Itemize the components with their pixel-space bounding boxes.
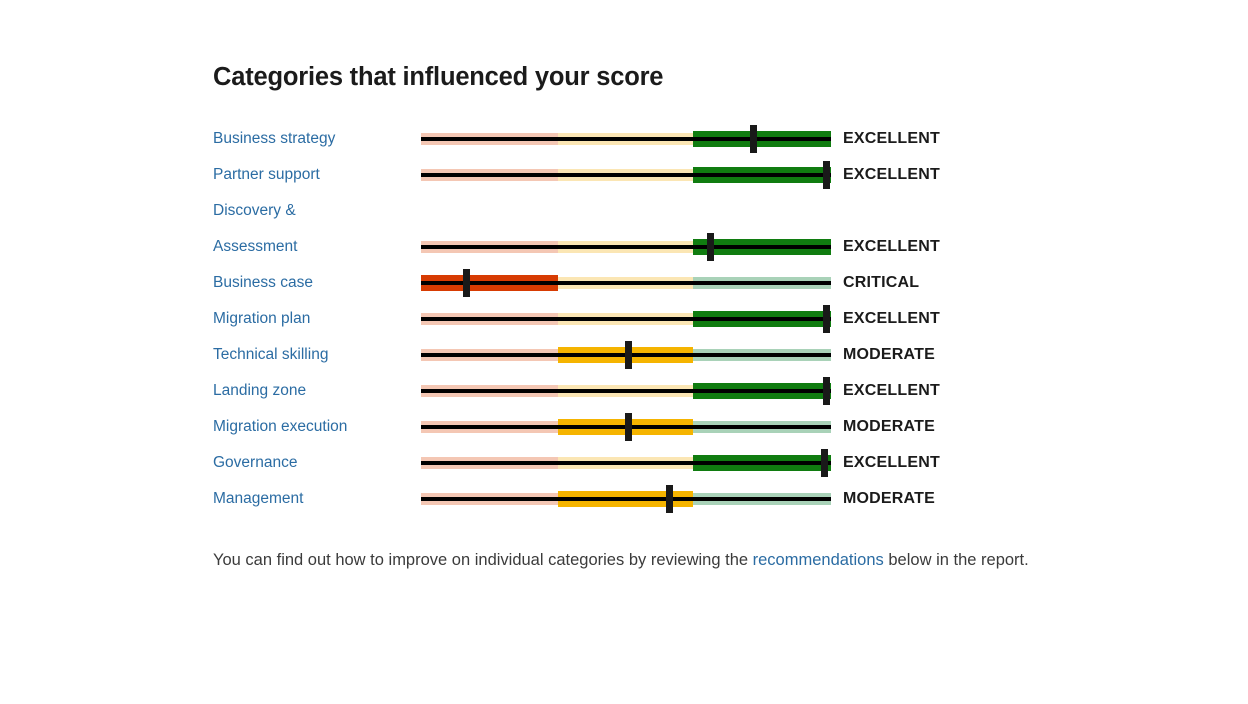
measure-bar: [421, 281, 831, 285]
measure-bar: [421, 173, 831, 177]
score-marker: [625, 341, 632, 369]
bullet-track: [421, 373, 831, 409]
category-label[interactable]: Partner support: [213, 157, 413, 193]
category-label[interactable]: Management: [213, 481, 413, 517]
category-label[interactable]: Business case: [213, 265, 413, 301]
categories-panel: Categories that influenced your score Bu…: [213, 62, 1113, 589]
rating-badge: EXCELLENT: [843, 445, 940, 481]
measure-bar: [421, 245, 831, 249]
rating-badge: MODERATE: [843, 481, 935, 517]
bullet-track: [421, 409, 831, 445]
bullet-track: [421, 337, 831, 373]
category-label[interactable]: Migration plan: [213, 301, 413, 337]
measure-bar: [421, 497, 831, 501]
chart-row: ManagementMODERATE: [213, 481, 973, 517]
chart-row: GovernanceEXCELLENT: [213, 445, 973, 481]
rating-badge: EXCELLENT: [843, 373, 940, 409]
category-label[interactable]: Landing zone: [213, 373, 413, 409]
category-label[interactable]: Technical skilling: [213, 337, 413, 373]
rating-badge: MODERATE: [843, 337, 935, 373]
category-label[interactable]: Discovery & Assessment: [213, 193, 413, 265]
footnote-text-before: You can find out how to improve on indiv…: [213, 551, 753, 569]
measure-bar: [421, 137, 831, 141]
chart-row: Business caseCRITICAL: [213, 265, 973, 301]
rating-badge: EXCELLENT: [843, 157, 940, 193]
bullet-track: [421, 157, 831, 193]
score-marker: [750, 125, 757, 153]
recommendations-link[interactable]: recommendations: [753, 551, 884, 569]
score-marker: [823, 377, 830, 405]
rating-badge: MODERATE: [843, 409, 935, 445]
category-label[interactable]: Governance: [213, 445, 413, 481]
score-marker: [823, 305, 830, 333]
rating-badge: EXCELLENT: [843, 229, 940, 265]
score-marker: [666, 485, 673, 513]
chart-row: Partner supportEXCELLENT: [213, 157, 973, 193]
measure-bar: [421, 317, 831, 321]
score-marker: [463, 269, 470, 297]
category-label[interactable]: Business strategy: [213, 121, 413, 157]
chart-row: Discovery & AssessmentEXCELLENT: [213, 193, 973, 265]
rating-badge: EXCELLENT: [843, 121, 940, 157]
footnote-text-after: below in the report.: [884, 551, 1029, 569]
score-marker: [821, 449, 828, 477]
rating-badge: EXCELLENT: [843, 301, 940, 337]
score-marker: [823, 161, 830, 189]
rating-badge: CRITICAL: [843, 265, 919, 301]
footnote: You can find out how to improve on indiv…: [213, 547, 1033, 573]
bullet-track: [421, 481, 831, 517]
bullet-track: [421, 121, 831, 157]
bullet-track: [421, 445, 831, 481]
bullet-track: [421, 301, 831, 337]
chart-row: Technical skillingMODERATE: [213, 337, 973, 373]
measure-bar: [421, 389, 831, 393]
score-marker: [625, 413, 632, 441]
bullet-track: [421, 229, 831, 265]
category-label[interactable]: Migration execution: [213, 409, 413, 445]
measure-bar: [421, 461, 831, 465]
chart-row: Landing zoneEXCELLENT: [213, 373, 973, 409]
chart-row: Migration planEXCELLENT: [213, 301, 973, 337]
chart-row: Business strategyEXCELLENT: [213, 121, 973, 157]
score-categories-page: Categories that influenced your score Bu…: [0, 0, 1248, 704]
chart-row: Migration executionMODERATE: [213, 409, 973, 445]
bullet-chart: Business strategyEXCELLENTPartner suppor…: [213, 121, 973, 517]
score-marker: [707, 233, 714, 261]
bullet-track: [421, 265, 831, 301]
page-title: Categories that influenced your score: [213, 62, 1113, 93]
